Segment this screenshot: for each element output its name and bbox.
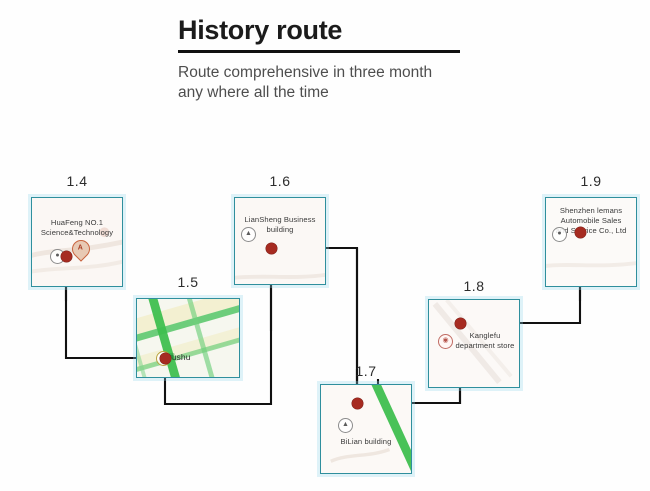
card-label-1-5: 1.5	[136, 274, 240, 290]
card-1-7[interactable]: BiLian building ▲	[320, 384, 412, 474]
card-1-6[interactable]: LianSheng Business building ▲	[234, 197, 326, 285]
page-subtitle: Route comprehensive in three month any w…	[178, 63, 448, 102]
route-node-1-6[interactable]	[266, 243, 277, 254]
card-label-1-6: 1.6	[234, 173, 326, 189]
building-icon: ▲	[338, 418, 353, 433]
card-name-line: Automobile Sales	[546, 216, 636, 226]
card-name-line: Shenzhen lemans	[546, 206, 636, 216]
route-node-1-5[interactable]	[160, 353, 171, 364]
card-name-line: LianSheng Business	[235, 215, 325, 225]
card-name-1-4: HuaFeng NO.1 Science&Technology	[32, 218, 122, 238]
car-icon: ●	[552, 227, 567, 242]
card-name-line: Science&Technology	[32, 228, 122, 238]
card-1-9[interactable]: Shenzhen lemans Automobile Sales and Ser…	[545, 197, 637, 287]
card-1-4[interactable]: HuaFeng NO.1 Science&Technology A ●	[31, 197, 123, 287]
card-1-8[interactable]: Kanglefu department store ◉	[428, 299, 520, 388]
card-1-5[interactable]: Gushu ■ ▣	[136, 298, 240, 378]
card-label-1-8: 1.8	[428, 278, 520, 294]
page-title: History route	[178, 16, 478, 44]
map-canvas-1-7	[321, 385, 411, 473]
route-node-1-4[interactable]	[61, 251, 72, 262]
route-node-1-8[interactable]	[455, 318, 466, 329]
card-name-line: HuaFeng NO.1	[32, 218, 122, 228]
map-canvas-1-5	[137, 299, 239, 377]
card-label-1-9: 1.9	[545, 173, 637, 189]
store-icon: ◉	[438, 334, 453, 349]
card-label-1-7: 1.7	[320, 363, 412, 379]
card-name-1-8: Kanglefu department store	[449, 331, 520, 351]
card-label-1-4: 1.4	[31, 173, 123, 189]
history-route-diagram: History route Route comprehensive in thr…	[0, 0, 650, 491]
title-underline	[178, 50, 460, 53]
route-node-1-7[interactable]	[352, 398, 363, 409]
header: History route Route comprehensive in thr…	[178, 16, 478, 102]
card-name-1-7: BiLian building	[321, 437, 411, 447]
pin-letter: A	[72, 241, 88, 255]
route-node-1-9[interactable]	[575, 227, 586, 238]
card-name-line: department store	[449, 341, 520, 351]
building-icon: ▲	[241, 227, 256, 242]
card-name-line: Kanglefu	[449, 331, 520, 341]
